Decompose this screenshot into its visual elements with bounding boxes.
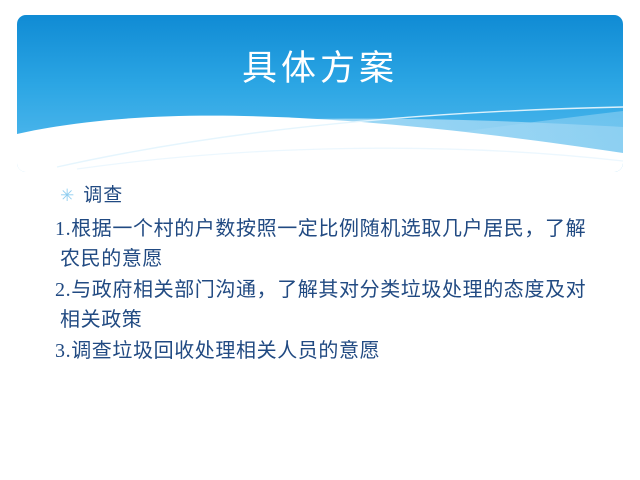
presentation-slide: 具体方案 ✳ 调查 1.根据一个村的户数按照一定比例随机选取几户居民，了解农民的…: [0, 0, 640, 480]
numbered-list-item: 1.根据一个村的户数按照一定比例随机选取几户居民，了解农民的意愿: [55, 214, 605, 274]
page-title: 具体方案: [17, 48, 623, 90]
asterisk-bullet-icon: ✳: [60, 188, 74, 205]
numbered-list-item: 2.与政府相关部门沟通，了解其对分类垃圾处理的态度及对相关政策: [55, 275, 605, 335]
bullet-item-label: 调查: [83, 183, 123, 209]
item-number: 2.: [55, 279, 71, 301]
item-text: 调查垃圾回收处理相关人员的意愿: [71, 340, 380, 362]
item-text: 根据一个村的户数按照一定比例随机选取几户居民，了解农民的意愿: [60, 218, 586, 270]
slide-body: ✳ 调查 1.根据一个村的户数按照一定比例随机选取几户居民，了解农民的意愿 2.…: [60, 183, 605, 367]
header-wave-graphic: [17, 15, 623, 172]
bullet-list-item: ✳ 调查: [60, 183, 605, 209]
header-banner: [17, 15, 623, 172]
item-text: 与政府相关部门沟通，了解其对分类垃圾处理的态度及对相关政策: [60, 279, 586, 331]
numbered-list-item: 3.调查垃圾回收处理相关人员的意愿: [55, 336, 605, 366]
item-number: 1.: [55, 218, 71, 240]
item-number: 3.: [55, 340, 71, 362]
